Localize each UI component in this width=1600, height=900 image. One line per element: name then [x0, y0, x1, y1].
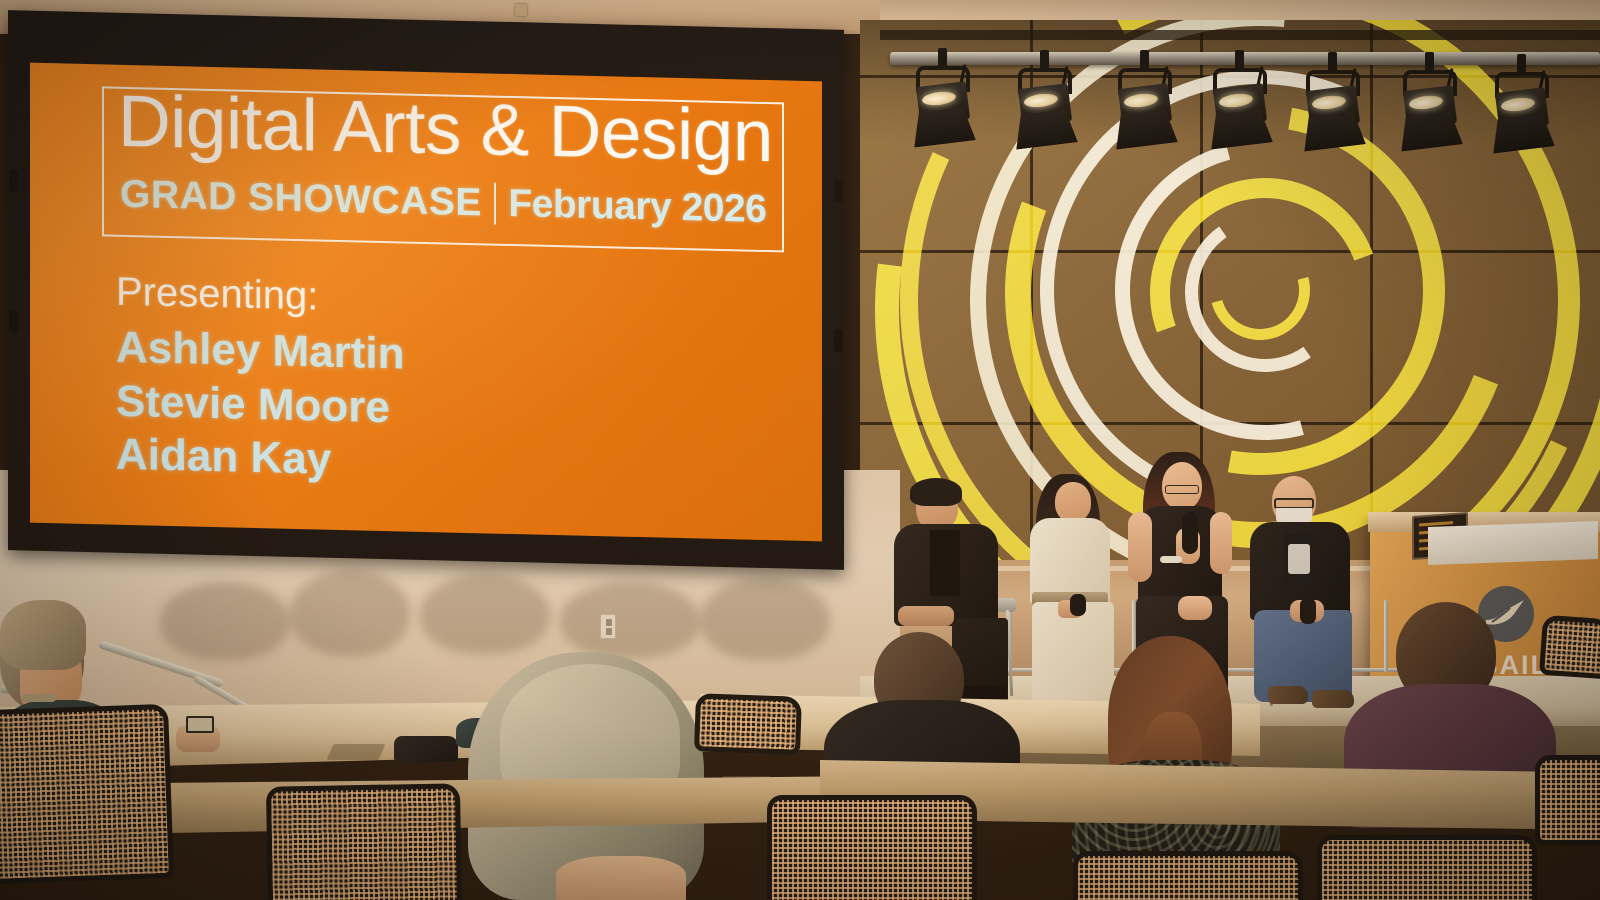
shoe — [1268, 686, 1308, 704]
presenting-label: Presenting: — [116, 270, 318, 320]
stage-light-fixture — [1010, 50, 1082, 150]
sprinkler-head-icon — [515, 4, 527, 16]
presentation-slide: Digital Arts & Design GRAD SHOWCASE Febr… — [30, 63, 822, 542]
wall-power-outlet-icon — [600, 614, 616, 639]
audience-chair[interactable] — [772, 800, 972, 900]
audience-chair[interactable] — [1540, 760, 1600, 840]
stage-light-fixture — [1395, 52, 1467, 152]
slide-subtitle-row: GRAD SHOWCASE February 2026 — [120, 173, 766, 232]
audience-chair[interactable] — [1322, 840, 1532, 900]
truss-shadow-bar — [880, 30, 1600, 40]
necklace — [22, 694, 56, 702]
stage-light-fixture — [1205, 50, 1277, 150]
slide-title: Digital Arts & Design — [118, 85, 773, 173]
audience-bag — [394, 736, 458, 762]
desk-cable-cutout — [326, 744, 385, 760]
eyeglasses-icon — [1165, 485, 1199, 494]
audience-chair[interactable] — [699, 698, 797, 749]
lectern-paper — [1428, 521, 1598, 565]
auditorium-scene: Digital Arts & Design GRAD SHOWCASE Febr… — [0, 0, 1600, 900]
projection-screen-frame: Digital Arts & Design GRAD SHOWCASE Febr… — [8, 10, 844, 570]
slide-subtitle-left: GRAD SHOWCASE — [120, 173, 482, 226]
audience-chair[interactable] — [0, 709, 169, 879]
audience-phone[interactable] — [186, 716, 214, 733]
stage-light-fixture — [1298, 52, 1370, 152]
microphone — [1070, 594, 1086, 616]
microphone — [1300, 598, 1316, 624]
presenter-list: Ashley Martin Stevie Moore Aidan Kay — [116, 321, 405, 489]
audience-chair[interactable] — [271, 788, 457, 900]
subtitle-divider — [494, 183, 497, 225]
audience-chair[interactable] — [1544, 620, 1600, 674]
stage-light-fixture — [1110, 50, 1182, 150]
slide-subtitle-date: February 2026 — [508, 182, 766, 232]
presenter-name: Aidan Kay — [116, 428, 405, 488]
shoe — [1312, 690, 1354, 708]
presenter-name: Stevie Moore — [116, 374, 405, 434]
bracelet — [1160, 556, 1182, 563]
presenter-name: Ashley Martin — [116, 321, 405, 381]
slide-title-box: Digital Arts & Design GRAD SHOWCASE Febr… — [102, 86, 784, 252]
stage-light-fixture — [908, 48, 980, 148]
stage-light-fixture — [1487, 54, 1559, 154]
microphone — [1182, 512, 1198, 554]
audience-chair[interactable] — [1078, 856, 1298, 900]
